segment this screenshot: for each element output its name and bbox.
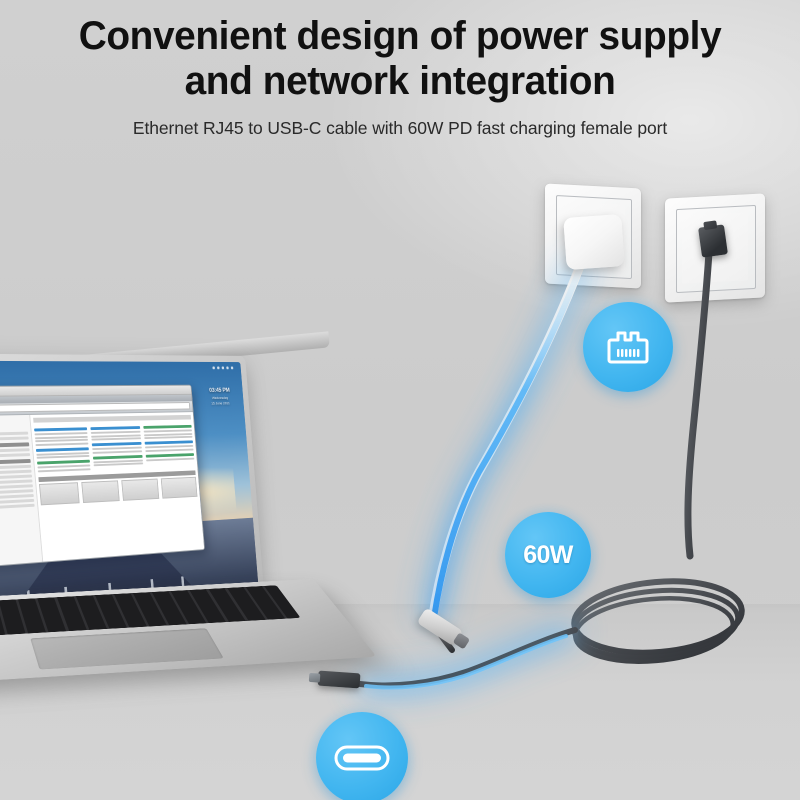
menubar-icon: [231, 367, 233, 370]
featured-products: [39, 476, 197, 505]
clock-date: 15 June 2011: [210, 400, 231, 405]
braided-cable-coil-1: [571, 575, 744, 659]
category-heading[interactable]: [91, 442, 141, 446]
category-heading[interactable]: [36, 447, 89, 452]
rj45-ethernet-port-icon: [605, 327, 651, 367]
rj45-connector: [698, 224, 728, 257]
product-thumbnail[interactable]: [81, 480, 120, 503]
desktop-menubar: [212, 366, 233, 369]
category-column: [90, 423, 144, 471]
sidebar-section-header: [0, 442, 29, 448]
page-title: Convenient design of power supply and ne…: [61, 14, 740, 104]
address-bar[interactable]: [0, 402, 190, 413]
menubar-icon: [221, 367, 224, 370]
badge-rj45-ethernet[interactable]: [583, 302, 673, 392]
category-link[interactable]: [92, 450, 142, 454]
category-heading[interactable]: [93, 455, 143, 460]
sidebar-section-header: [0, 459, 31, 465]
silver-laptop: 03:45 PM Wednesday 15 June 2011: [0, 355, 380, 755]
badge-usb-c[interactable]: [316, 712, 408, 800]
site-logo[interactable]: 3sixty: [0, 418, 29, 431]
desktop-clock-widget: 03:45 PM Wednesday 15 June 2011: [209, 387, 231, 405]
badge-power-rating[interactable]: 60W: [505, 512, 591, 598]
category-link[interactable]: [93, 463, 143, 467]
laptop-screen: 03:45 PM Wednesday 15 June 2011: [0, 361, 258, 612]
category-column: [143, 422, 195, 469]
sidebar-item[interactable]: [0, 448, 30, 453]
page-main-content: [30, 412, 204, 562]
product-thumbnail[interactable]: [39, 482, 79, 505]
category-link[interactable]: [144, 429, 192, 432]
braided-cable-upper: [688, 252, 709, 556]
category-link[interactable]: [146, 458, 194, 462]
category-link[interactable]: [35, 442, 88, 445]
category-link[interactable]: [37, 455, 89, 459]
clock-time: 03:45 PM: [209, 387, 230, 393]
category-link[interactable]: [91, 437, 141, 440]
menubar-icon: [212, 366, 215, 369]
sidebar-item[interactable]: [0, 453, 30, 458]
category-heading[interactable]: [143, 425, 191, 429]
sidebar-item[interactable]: [0, 432, 28, 436]
menubar-icon: [217, 367, 220, 370]
sidebar-item[interactable]: [0, 437, 29, 441]
clock-weekday: Wednesday: [210, 395, 231, 400]
laptop-keyboard[interactable]: [0, 585, 301, 637]
laptop-trackpad[interactable]: [30, 628, 224, 670]
menubar-icon: [226, 367, 229, 370]
category-link[interactable]: [144, 436, 192, 439]
usb-c-port-icon: [334, 745, 390, 771]
header: Convenient design of power supply and ne…: [0, 14, 800, 139]
browser-window[interactable]: 3sixty: [0, 385, 205, 568]
category-heading[interactable]: [145, 441, 193, 445]
category-heading[interactable]: [90, 426, 140, 430]
category-heading[interactable]: [146, 453, 194, 457]
category-link[interactable]: [35, 432, 88, 435]
product-marketing-image: Convenient design of power supply and ne…: [0, 0, 800, 800]
page-subtitle: Ethernet RJ45 to USB-C cable with 60W PD…: [0, 118, 800, 139]
browser-content: 3sixty: [0, 412, 204, 566]
category-heading[interactable]: [34, 427, 87, 431]
product-thumbnail[interactable]: [122, 478, 160, 500]
laptop-base: [0, 579, 377, 683]
product-thumbnail[interactable]: [161, 476, 197, 498]
content-header-bar: [33, 415, 191, 423]
category-column: [34, 424, 91, 473]
white-power-adapter: [563, 214, 624, 270]
category-link[interactable]: [38, 468, 90, 472]
usb-c-plug-in-laptop: [318, 671, 361, 689]
badge-power-label: 60W: [523, 541, 573, 570]
category-columns: [34, 422, 195, 474]
laptop-lid: 03:45 PM Wednesday 15 June 2011: [0, 354, 264, 623]
sidebar-item[interactable]: [0, 504, 35, 510]
category-link[interactable]: [90, 431, 140, 434]
category-link[interactable]: [145, 448, 193, 451]
